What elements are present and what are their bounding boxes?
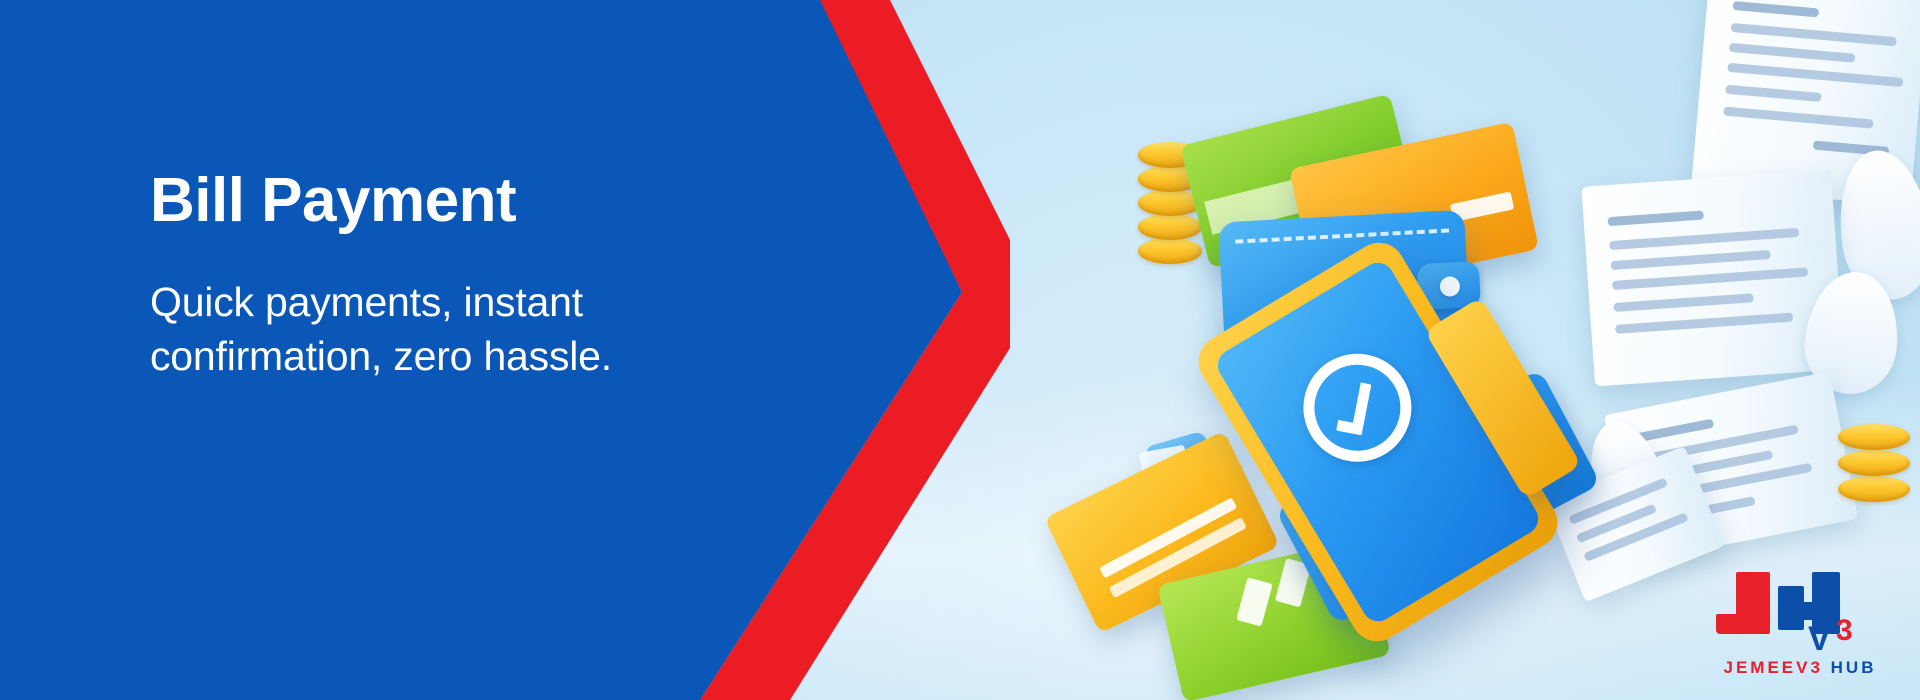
logo-word-secondary: HUB [1831, 658, 1877, 677]
coin-stack-right [1838, 420, 1910, 510]
bill-payment-banner: Bill Payment Quick payments, instant con… [0, 0, 1920, 700]
logo-wordmark: JEMEEV3 HUB [1716, 658, 1884, 678]
page-title: Bill Payment [150, 168, 790, 233]
subtitle-line-1: Quick payments, instant [150, 275, 790, 329]
logo-word-primary: JEMEEV3 [1723, 658, 1822, 677]
banner-copy: Bill Payment Quick payments, instant con… [150, 168, 790, 383]
subtitle-line-2: confirmation, zero hassle. [150, 329, 790, 383]
banner-subtitle: Quick payments, instant confirmation, ze… [150, 275, 790, 383]
logo-monogram-icon: V 3 [1716, 572, 1884, 656]
logo-3-letter: 3 [1836, 616, 1853, 646]
wallet-stitch-top [1235, 228, 1449, 243]
brand-logo[interactable]: V 3 JEMEEV3 HUB [1716, 572, 1884, 678]
logo-j-hook [1716, 614, 1770, 634]
logo-v-letter: V [1808, 622, 1831, 656]
check-icon [1336, 380, 1371, 436]
checkmark-badge [1283, 334, 1431, 482]
